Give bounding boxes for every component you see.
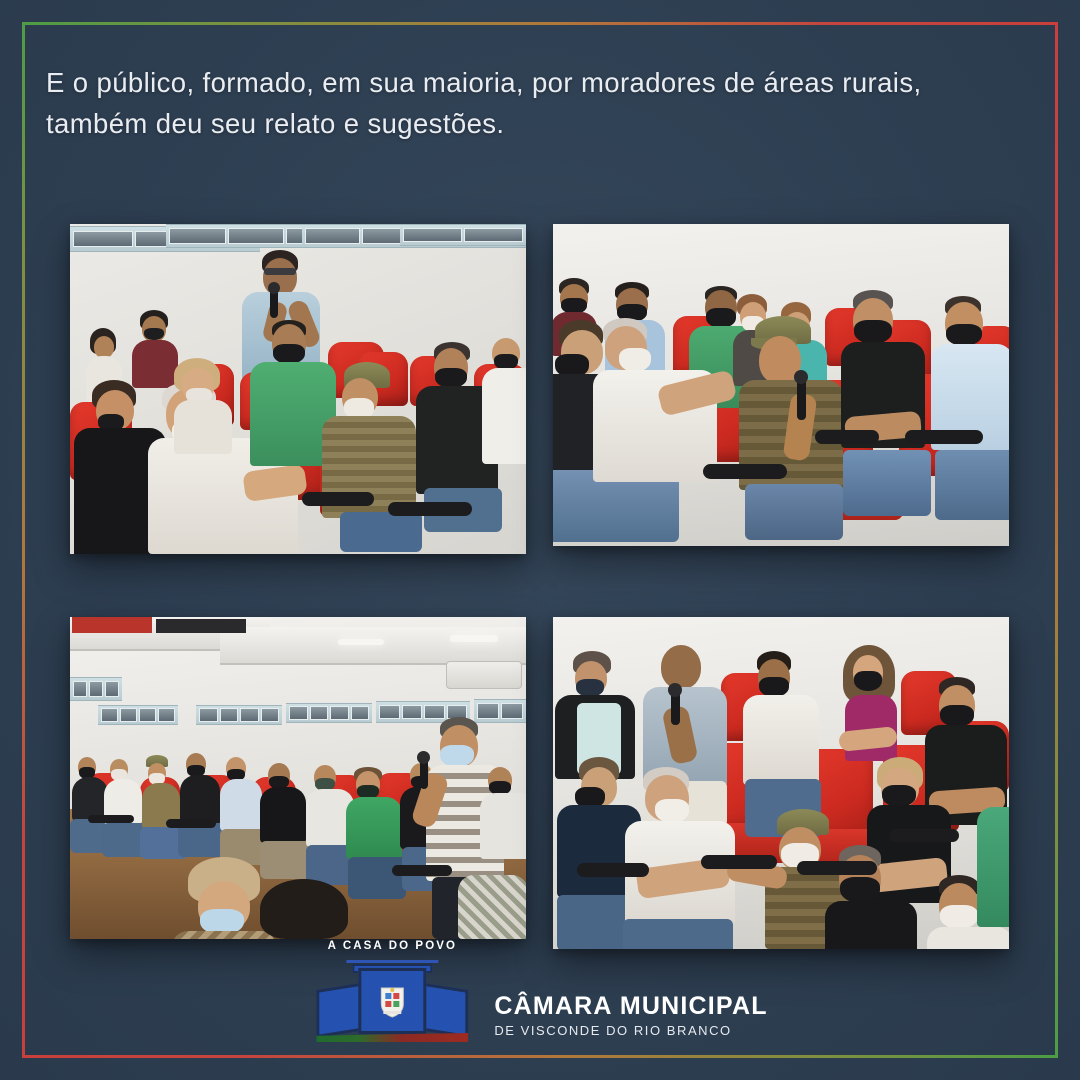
balcony-chairs xyxy=(72,617,152,633)
portrait-frame xyxy=(403,228,462,242)
jeans xyxy=(935,450,1009,520)
photo-bottom-left xyxy=(70,617,526,939)
photo-2-scene xyxy=(553,224,1009,546)
footer: A CASA DO POVO CÂMARA MUNICI xyxy=(0,940,1080,1050)
wordmark-title: CÂMARA MUNICIPAL xyxy=(494,993,767,1019)
portrait-strip xyxy=(98,705,178,725)
face-mask xyxy=(940,705,974,727)
chair-arm xyxy=(88,815,134,823)
chair-arm xyxy=(388,502,472,516)
air-conditioner xyxy=(446,661,522,689)
face-mask xyxy=(759,677,789,697)
balcony-upper xyxy=(220,627,526,665)
portrait-frame xyxy=(73,231,133,248)
photo-bottom-right xyxy=(553,617,1009,949)
frame-right-edge xyxy=(1055,22,1058,1058)
head-bald xyxy=(661,645,701,689)
portrait-frame xyxy=(240,708,259,721)
torso xyxy=(743,695,819,785)
face-mask xyxy=(854,671,882,691)
portrait-frame xyxy=(305,228,360,244)
portrait-frame xyxy=(105,681,119,697)
portrait-frame xyxy=(228,228,285,244)
portrait-strip xyxy=(286,703,372,723)
logo-tagline-bar xyxy=(346,960,438,963)
portrait-frame xyxy=(402,705,423,719)
torso xyxy=(220,779,262,831)
footer-inner: A CASA DO POVO CÂMARA MUNICI xyxy=(312,940,767,1048)
portrait-frame xyxy=(73,681,87,697)
chair-arm xyxy=(392,865,452,876)
chair-arm xyxy=(577,863,649,877)
microphone-head xyxy=(668,683,682,697)
torso xyxy=(180,775,220,825)
torso xyxy=(480,793,526,859)
photo-4-scene xyxy=(553,617,1009,949)
portrait-frame xyxy=(351,706,370,719)
jeans xyxy=(843,450,931,516)
portrait-strip xyxy=(70,677,122,701)
chair-arm xyxy=(815,430,879,444)
chair-arm xyxy=(701,855,777,869)
face-mask xyxy=(273,344,305,364)
torso xyxy=(260,787,306,843)
logo-tagline: A CASA DO POVO xyxy=(312,940,472,952)
frame-top-edge xyxy=(22,22,1058,25)
torso xyxy=(977,807,1009,927)
camara-logo: A CASA DO POVO xyxy=(312,940,472,1048)
jeans xyxy=(348,857,406,899)
frame-bottom-edge xyxy=(22,1055,1058,1058)
frame-left-edge xyxy=(22,22,25,1058)
headline-text: E o público, formado, em sua maioria, po… xyxy=(46,62,1046,144)
photo-1-scene xyxy=(70,224,526,554)
face-mask xyxy=(435,368,467,388)
face-mask xyxy=(619,348,651,372)
torso xyxy=(346,797,402,859)
face-mask xyxy=(946,324,982,346)
head xyxy=(94,336,114,358)
balcony-rail xyxy=(156,619,246,633)
portrait-frame xyxy=(464,228,523,242)
portrait-frame xyxy=(199,708,218,721)
portrait-frame xyxy=(158,708,175,721)
portrait-strip xyxy=(196,705,282,725)
chair-arm xyxy=(302,492,374,506)
portrait-frame xyxy=(330,706,349,719)
face-mask xyxy=(706,308,736,328)
torso xyxy=(132,340,178,388)
wordmark: CÂMARA MUNICIPAL DE VISCONDE DO RIO BRAN… xyxy=(494,993,767,1048)
face-mask xyxy=(840,877,880,903)
jeans xyxy=(178,823,226,857)
photo-top-left xyxy=(70,224,526,554)
portrait-frame xyxy=(310,706,329,719)
torso xyxy=(172,931,276,939)
face-mask xyxy=(882,785,916,807)
social-post-canvas: E o público, formado, em sua maioria, po… xyxy=(0,0,1080,1080)
torso xyxy=(174,400,232,454)
portrait-frame xyxy=(89,681,103,697)
speaker-glasses xyxy=(264,268,296,275)
coat-of-arms-icon xyxy=(377,984,407,1018)
chair-arm xyxy=(905,430,983,444)
face-mask xyxy=(655,799,689,823)
portrait-frame xyxy=(379,705,400,719)
chair-arm xyxy=(797,861,877,875)
portrait-frame xyxy=(289,706,308,719)
chair-arm xyxy=(703,464,787,479)
microphone-head xyxy=(794,370,808,384)
portrait-frame xyxy=(120,708,137,721)
ceiling-light xyxy=(338,639,384,645)
ceiling-light xyxy=(450,635,498,642)
chair-arm xyxy=(889,829,959,842)
face-mask xyxy=(144,328,164,340)
chair-arm xyxy=(166,819,216,828)
microphone xyxy=(797,378,806,420)
face-mask xyxy=(440,745,474,767)
photo-top-right xyxy=(553,224,1009,546)
jeans xyxy=(340,512,422,552)
portrait-frame xyxy=(139,708,156,721)
face-mask xyxy=(854,320,892,344)
hair xyxy=(260,879,348,939)
photo-3-scene xyxy=(70,617,526,939)
torso xyxy=(458,875,526,939)
torso xyxy=(482,368,526,464)
portrait-frame xyxy=(261,708,280,721)
face-mask xyxy=(940,905,978,929)
microphone-head xyxy=(268,282,280,294)
trousers xyxy=(260,841,312,879)
portrait-frame xyxy=(220,708,239,721)
microphone-head xyxy=(417,751,430,764)
wordmark-subtitle: DE VISCONDE DO RIO BRANCO xyxy=(494,1023,767,1038)
jeans xyxy=(745,484,843,540)
portrait-frame xyxy=(101,708,118,721)
portrait-frame xyxy=(169,228,226,244)
portrait-strip xyxy=(400,224,526,246)
